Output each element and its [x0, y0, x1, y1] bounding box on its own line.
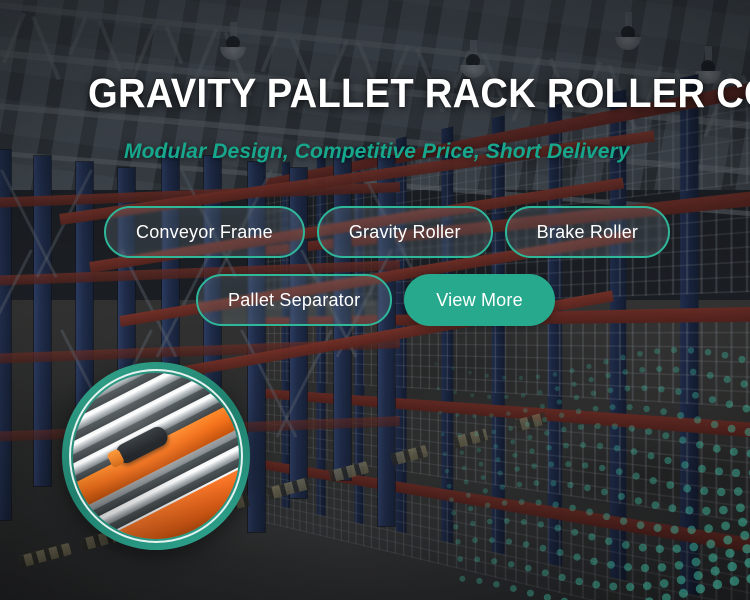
button-conveyor-frame[interactable]: Conveyor Frame	[104, 206, 305, 258]
button-row-2: Pallet Separator View More	[0, 274, 750, 326]
button-pallet-separator[interactable]: Pallet Separator	[196, 274, 392, 326]
page-subtitle: Modular Design, Competitive Price, Short…	[124, 139, 724, 165]
category-button-group: Conveyor Frame Gravity Roller Brake Roll…	[0, 206, 750, 326]
button-brake-roller[interactable]: Brake Roller	[505, 206, 670, 258]
promo-banner: GRAVITY PALLET RACK ROLLER CONVEYOR Modu…	[0, 0, 750, 600]
page-title: GRAVITY PALLET RACK ROLLER CONVEYOR	[88, 70, 646, 116]
button-row-1: Conveyor Frame Gravity Roller Brake Roll…	[0, 206, 750, 258]
button-view-more[interactable]: View More	[404, 274, 555, 326]
button-gravity-roller[interactable]: Gravity Roller	[317, 206, 493, 258]
circle-inner-white-ring	[69, 369, 243, 543]
product-inset-circle[interactable]	[62, 362, 250, 550]
